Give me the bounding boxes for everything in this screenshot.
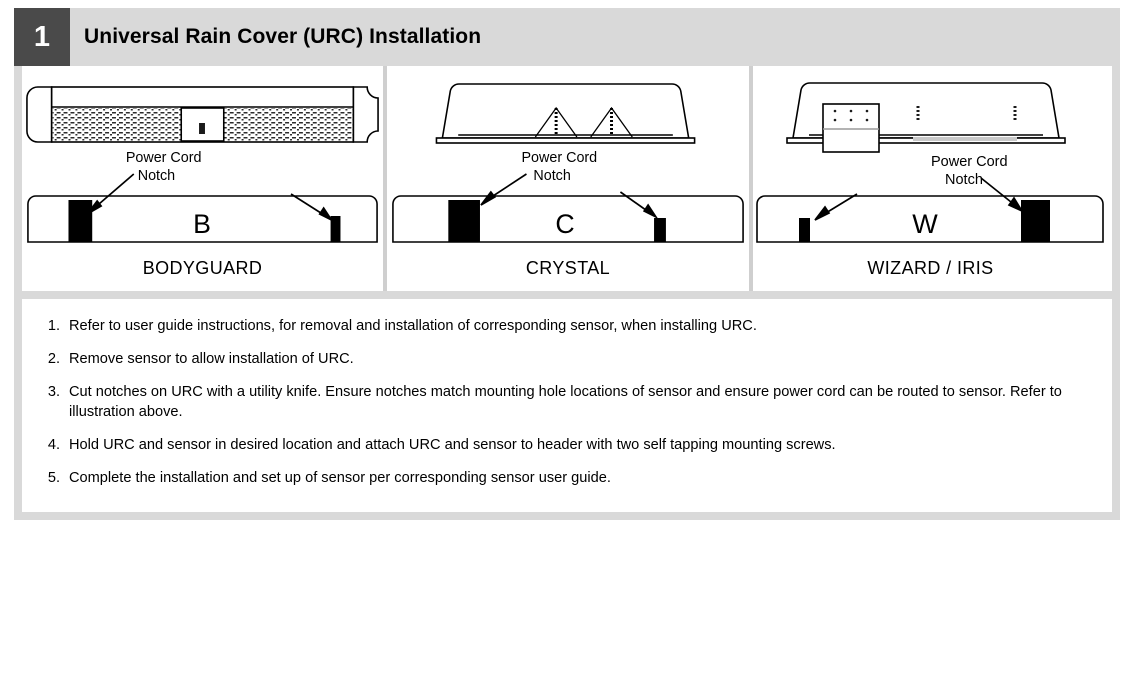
page-title: Universal Rain Cover (URC) Installation [84, 8, 481, 66]
section-header: 1 Universal Rain Cover (URC) Installatio… [14, 8, 1120, 66]
bodyguard-callout-line2: Notch [138, 168, 175, 184]
diagram-strip: Power Cord Notch B [22, 66, 1112, 291]
bodyguard-grille-right [224, 108, 353, 141]
bodyguard-center-module [181, 108, 224, 141]
instruction-number: 3. [34, 383, 69, 422]
wizard-callout-line1: Power Cord [931, 154, 1008, 170]
panel-caption-bodyguard: BODYGUARD [22, 258, 383, 279]
crystal-callout-line2: Notch [533, 168, 570, 184]
instruction-number: 4. [34, 436, 69, 456]
bodyguard-notch-large [68, 200, 92, 242]
panel-wizard-iris: Power Cord Notch W [753, 66, 1108, 291]
bodyguard-callout-line1: Power Cord [126, 150, 202, 166]
document-frame: 1 Universal Rain Cover (URC) Installatio… [14, 8, 1120, 520]
crystal-callout-line1: Power Cord [522, 150, 598, 166]
page-sheet: 1 Universal Rain Cover (URC) Installatio… [0, 0, 1142, 675]
instruction-number: 5. [34, 469, 69, 489]
instruction-item: 3. Cut notches on URC with a utility kni… [34, 383, 1092, 422]
crystal-notch-large [448, 200, 480, 242]
instruction-item: 5. Complete the installation and set up … [34, 469, 1092, 489]
wizard-cover: W [757, 196, 1103, 242]
wizard-notch-large [1021, 200, 1050, 242]
instruction-list: 1. Refer to user guide instructions, for… [22, 299, 1112, 512]
crystal-sensor [436, 84, 694, 143]
instruction-item: 1. Refer to user guide instructions, for… [34, 317, 1092, 337]
wizard-mount-bracket [823, 104, 879, 152]
bodyguard-illustration: Power Cord Notch B [22, 66, 383, 251]
instruction-text: Complete the installation and set up of … [69, 469, 1092, 489]
instruction-text: Hold URC and sensor in desired location … [69, 436, 1092, 456]
instruction-item: 4. Hold URC and sensor in desired locati… [34, 436, 1092, 456]
bodyguard-grille-left [53, 108, 182, 141]
panel-crystal: Power Cord Notch C [387, 66, 753, 291]
bodyguard-cover-letter: B [193, 209, 211, 239]
bodyguard-cover: B [28, 196, 377, 242]
crystal-notch-small [654, 218, 666, 242]
instruction-item: 2. Remove sensor to allow installation o… [34, 350, 1092, 370]
crystal-cover: C [393, 196, 743, 242]
wizard-notch-small [799, 218, 810, 242]
instruction-text: Remove sensor to allow installation of U… [69, 350, 1092, 370]
instruction-number: 1. [34, 317, 69, 337]
crystal-illustration: Power Cord Notch C [387, 66, 749, 251]
crystal-cover-letter: C [555, 209, 574, 239]
panel-caption-crystal: CRYSTAL [387, 258, 749, 279]
wizard-cover-letter: W [912, 209, 938, 239]
instruction-text: Cut notches on URC with a utility knife.… [69, 383, 1092, 422]
instruction-text: Refer to user guide instructions, for re… [69, 317, 1092, 337]
wizard-illustration: Power Cord Notch W [753, 66, 1108, 251]
step-number-badge: 1 [14, 8, 70, 66]
panel-bodyguard: Power Cord Notch B [22, 66, 387, 291]
wizard-callout-line2: Notch [945, 172, 983, 188]
instruction-number: 2. [34, 350, 69, 370]
panel-caption-wizard-iris: WIZARD / IRIS [753, 258, 1108, 279]
